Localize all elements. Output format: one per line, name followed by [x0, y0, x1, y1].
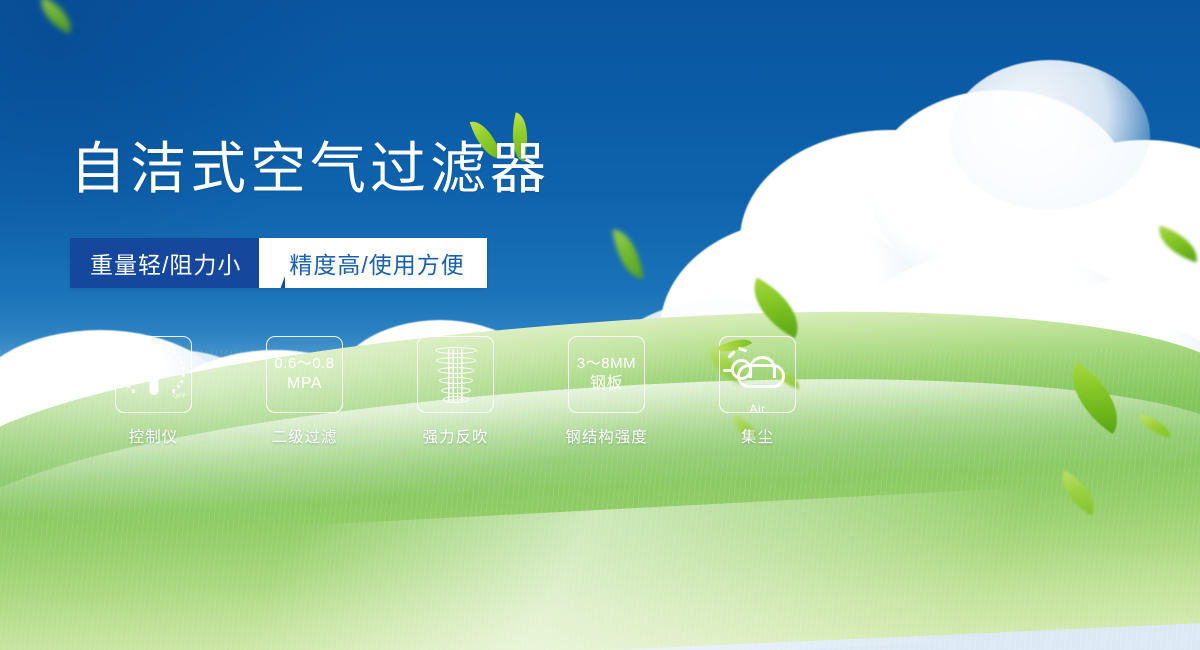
feature-tile: Air: [719, 336, 796, 413]
pressure-text-icon: 0.6～0.8 MPA: [274, 355, 334, 394]
tile-line-1: 0.6～0.8: [274, 355, 334, 374]
tile-line-2: 钢板: [577, 374, 636, 394]
feature-icon-row: NO OFF: [78, 336, 833, 447]
feature-label: 控制仪: [129, 425, 179, 447]
feature-item-dust-collection[interactable]: Air 集尘: [682, 336, 833, 447]
air-cloud-icon: Air: [727, 347, 789, 403]
air-label: Air: [727, 402, 789, 416]
filter-coil-icon: [428, 345, 484, 405]
feature-item-reverse-blow[interactable]: 强力反吹: [380, 336, 531, 447]
feature-item-control-unit[interactable]: NO OFF: [78, 336, 229, 447]
subtitle-divider: [259, 238, 285, 288]
page-title: 自洁式空气过滤器: [70, 140, 550, 199]
feature-tile: NO OFF: [115, 336, 192, 413]
feature-tile: 3～8MM 钢板: [568, 336, 645, 413]
feature-label: 钢结构强度: [565, 425, 648, 447]
gauge-icon: NO OFF: [123, 346, 185, 404]
feature-label: 二级过滤: [271, 425, 337, 447]
hero-banner: 自洁式空气过滤器 重量轻/阻力小 精度高/使用方便 NO OFF: [0, 0, 1200, 650]
feature-tile: 0.6～0.8 MPA: [266, 336, 343, 413]
tile-line-1: 3～8MM: [577, 355, 636, 374]
tile-line-2: MPA: [274, 374, 334, 394]
subtitle-badge-bar: 重量轻/阻力小 精度高/使用方便: [70, 238, 487, 288]
subtitle-segment-right: 精度高/使用方便: [285, 238, 486, 288]
subtitle-segment-left: 重量轻/阻力小: [70, 238, 259, 288]
feature-tile: [417, 336, 494, 413]
feature-item-two-stage-filter[interactable]: 0.6～0.8 MPA 二级过滤: [229, 336, 380, 447]
feature-item-steel-strength[interactable]: 3～8MM 钢板 钢结构强度: [531, 336, 682, 447]
gauge-label-off: OFF: [173, 394, 187, 400]
feature-label: 强力反吹: [422, 425, 488, 447]
steel-plate-text-icon: 3～8MM 钢板: [577, 355, 636, 394]
feature-label: 集尘: [741, 425, 774, 447]
